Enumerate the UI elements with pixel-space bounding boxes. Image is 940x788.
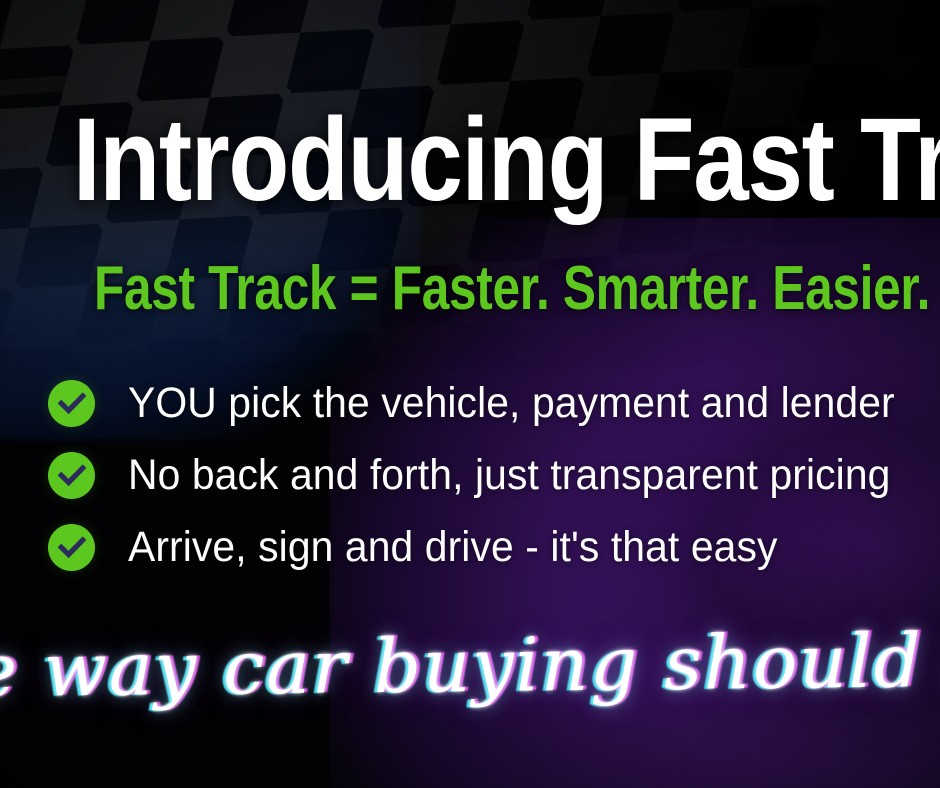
list-item-label: Arrive, sign and drive - it's that easy [128,524,777,570]
list-item-label: No back and forth, just transparent pric… [128,452,890,498]
tagline-script-text: The way car buying should be. The way ca… [0,608,940,724]
tagline-label: The way car buying should be. [0,617,940,715]
list-item: No back and forth, just transparent pric… [48,450,908,500]
tagline-container: The way car buying should be. The way ca… [0,606,940,726]
list-item: Arrive, sign and drive - it's that easy [48,522,908,572]
check-circle-icon [48,452,95,499]
benefits-list: YOU pick the vehicle, payment and lender… [48,378,908,572]
check-circle-icon [48,524,95,571]
poster-content: Introducing Fast Track Fast Track = Fast… [0,0,940,788]
page-title: Introducing Fast Track [73,104,867,216]
check-circle-icon [48,380,95,427]
list-item: YOU pick the vehicle, payment and lender [48,378,908,428]
list-item-label: YOU pick the vehicle, payment and lender [128,380,895,426]
fast-track-promo-poster: Introducing Fast Track Fast Track = Fast… [0,0,940,788]
page-subtitle: Fast Track = Faster. Smarter. Easier. [94,258,846,320]
